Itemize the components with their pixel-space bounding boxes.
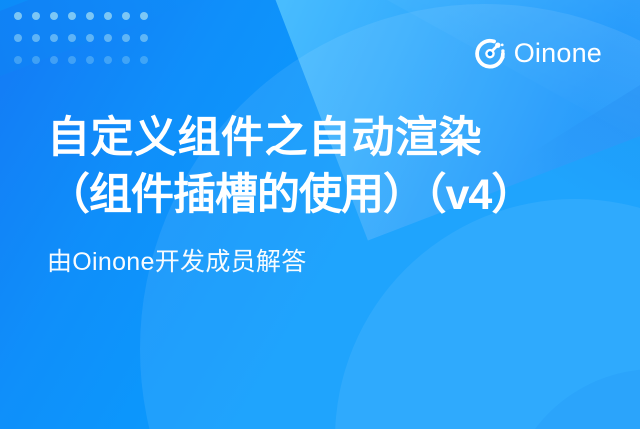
grid-dot <box>32 12 40 20</box>
grid-dot <box>14 12 22 20</box>
page-subtitle: 由Oinone开发成员解答 <box>47 250 610 275</box>
grid-dot <box>32 56 40 64</box>
grid-dot <box>50 56 58 64</box>
grid-dot <box>68 12 76 20</box>
grid-dot <box>50 34 58 42</box>
grid-dot <box>140 34 148 42</box>
title-line-1: 自定义组件之自动渲染 <box>47 114 482 162</box>
grid-dot <box>14 34 22 42</box>
dot-grid-decoration <box>14 12 158 78</box>
grid-dot <box>68 34 76 42</box>
grid-dot <box>86 12 94 20</box>
brand-logo: Oinone <box>473 36 602 70</box>
grid-dot <box>86 56 94 64</box>
grid-dot <box>86 34 94 42</box>
grid-dot <box>122 34 130 42</box>
brand-name: Oinone <box>514 40 602 67</box>
grid-dot <box>32 34 40 42</box>
grid-dot <box>68 56 76 64</box>
grid-dot <box>122 56 130 64</box>
grid-dot <box>140 12 148 20</box>
oinone-title-banner: Oinone 自定义组件之自动渲染 （组件插槽的使用）（v4） 由Oinone开… <box>0 0 640 429</box>
title-line-2: （组件插槽的使用）（v4） <box>47 171 533 219</box>
grid-dot <box>14 56 22 64</box>
decorative-arc-inner <box>505 369 640 429</box>
banner-text-block: 自定义组件之自动渲染 （组件插槽的使用）（v4） 由Oinone开发成员解答 <box>47 110 610 275</box>
grid-dot <box>140 56 148 64</box>
grid-dot <box>122 12 130 20</box>
grid-dot <box>104 56 112 64</box>
grid-dot <box>104 12 112 20</box>
grid-dot <box>104 34 112 42</box>
grid-dot <box>50 12 58 20</box>
oinone-c-dots-logo-icon <box>473 36 507 70</box>
page-title: 自定义组件之自动渲染 （组件插槽的使用）（v4） <box>47 110 610 224</box>
